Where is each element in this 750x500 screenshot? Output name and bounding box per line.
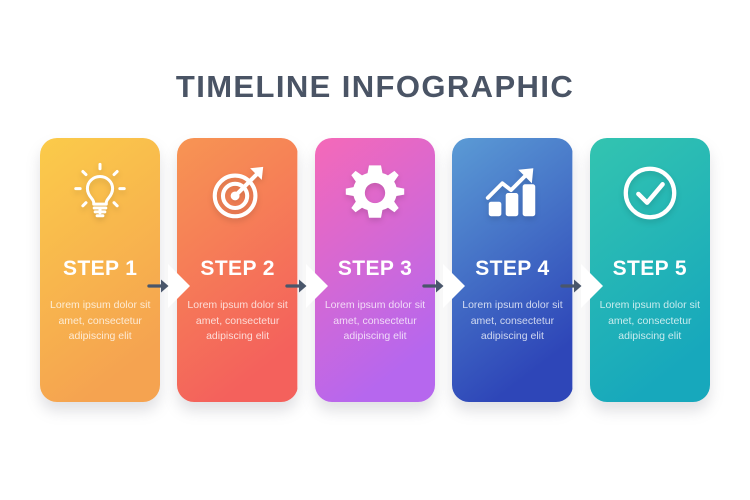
lightbulb-icon xyxy=(69,162,131,224)
step-title: STEP 5 xyxy=(613,258,687,279)
step-title: STEP 2 xyxy=(200,258,274,279)
page-title: TIMELINE INFOGRAPHIC xyxy=(0,69,750,105)
step-description: Lorem ipsum dolor sit amet, consectetur … xyxy=(48,298,152,345)
arrow-right-icon xyxy=(560,268,586,304)
step-title: STEP 1 xyxy=(63,258,137,279)
arrow-right-icon xyxy=(422,268,448,304)
step-description: Lorem ipsum dolor sit amet, consectetur … xyxy=(460,298,564,345)
step-title: STEP 4 xyxy=(475,258,549,279)
arrow-right-icon xyxy=(147,268,173,304)
step-description: Lorem ipsum dolor sit amet, consectetur … xyxy=(186,298,290,345)
arrow-right-icon xyxy=(285,268,311,304)
step-card-2[interactable]: STEP 2 Lorem ipsum dolor sit amet, conse… xyxy=(177,138,297,402)
step-card-4[interactable]: STEP 4 Lorem ipsum dolor sit amet, conse… xyxy=(452,138,572,402)
step-card-5[interactable]: STEP 5 Lorem ipsum dolor sit amet, conse… xyxy=(590,138,710,402)
step-description: Lorem ipsum dolor sit amet, consectetur … xyxy=(323,298,427,345)
gear-icon xyxy=(344,162,406,224)
check-circle-icon xyxy=(619,162,681,224)
growth-chart-icon xyxy=(481,162,543,224)
target-arrow-icon xyxy=(207,162,269,224)
step-card-3[interactable]: STEP 3 Lorem ipsum dolor sit amet, conse… xyxy=(315,138,435,402)
timeline-steps-row: STEP 1 Lorem ipsum dolor sit amet, conse… xyxy=(40,138,710,402)
step-description: Lorem ipsum dolor sit amet, consectetur … xyxy=(598,298,702,345)
step-card-1[interactable]: STEP 1 Lorem ipsum dolor sit amet, conse… xyxy=(40,138,160,402)
step-title: STEP 3 xyxy=(338,258,412,279)
